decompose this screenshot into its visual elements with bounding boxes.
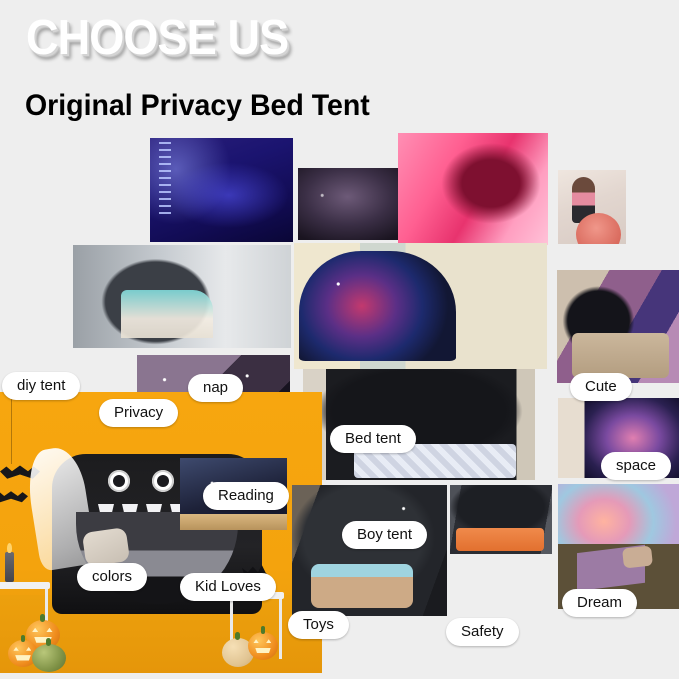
photo-image — [292, 485, 447, 616]
photo-image — [294, 243, 547, 369]
label-privacy[interactable]: Privacy — [99, 399, 178, 427]
label-bed-tent[interactable]: Bed tent — [330, 425, 416, 453]
bat-icon — [0, 490, 28, 505]
photo-privacy-pop-bag — [558, 170, 626, 244]
label-diy-tent[interactable]: diy tent — [2, 372, 80, 400]
photo-safety-tent — [450, 485, 552, 554]
promo-banner: CHOOSE US Original Privacy Bed Tent — [0, 0, 679, 679]
pillow — [82, 527, 130, 567]
photo-image — [298, 168, 408, 240]
photo-pink-bed-tent — [398, 133, 548, 245]
photo-image — [150, 138, 293, 242]
photo-image — [398, 133, 548, 245]
photo-halloween-monster-bed-tent — [0, 392, 322, 673]
photo-galaxy-bunk-tent — [294, 243, 547, 369]
label-dream[interactable]: Dream — [562, 589, 637, 617]
page-title: CHOOSE US — [26, 10, 288, 66]
photo-cute-galaxy-tent — [557, 270, 679, 383]
photo-image — [557, 270, 679, 383]
photo-image — [558, 170, 626, 244]
label-safety[interactable]: Safety — [446, 618, 519, 646]
label-nap[interactable]: nap — [188, 374, 243, 402]
photo-blue-glow-tent — [150, 138, 293, 242]
candle-icon — [5, 552, 14, 582]
label-cute[interactable]: Cute — [570, 373, 632, 401]
monster-eye-left — [108, 470, 130, 492]
label-boy-tent[interactable]: Boy tent — [342, 521, 427, 549]
photo-black-bed-tent — [303, 369, 535, 480]
pumpkin-icon — [248, 632, 278, 660]
photo-galaxy-interior — [298, 168, 408, 240]
photo-kids-in-tent — [73, 245, 291, 348]
bat-string — [11, 392, 12, 464]
label-colors[interactable]: colors — [77, 563, 147, 591]
photo-image — [73, 245, 291, 348]
photo-image — [303, 369, 535, 480]
label-reading[interactable]: Reading — [203, 482, 289, 510]
photo-image — [450, 485, 552, 554]
photo-boy-black-tent — [292, 485, 447, 616]
page-subtitle: Original Privacy Bed Tent — [25, 88, 370, 124]
label-kid-loves[interactable]: Kid Loves — [180, 573, 276, 601]
label-space[interactable]: space — [601, 452, 671, 480]
pumpkin-icon — [32, 644, 66, 672]
label-toys[interactable]: Toys — [288, 611, 349, 639]
monster-eye-right — [152, 470, 174, 492]
